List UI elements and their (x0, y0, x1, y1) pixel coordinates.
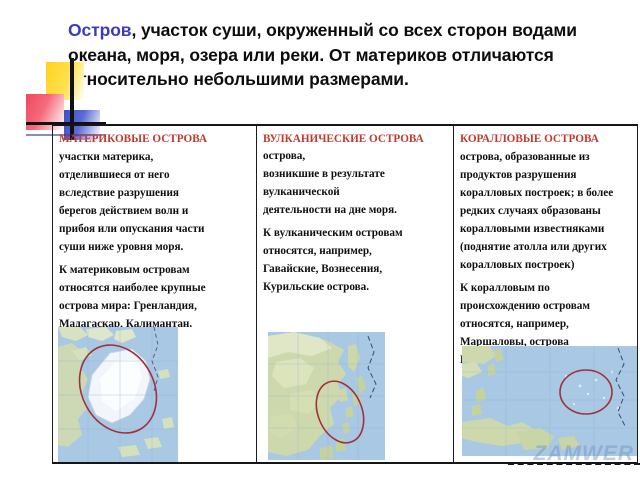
column-text-line: коралловыми известняками (460, 221, 630, 238)
column-text-line: Курильские острова. (263, 279, 446, 296)
east-asia-map-graphic (268, 332, 385, 460)
column-text-line: возникшие в результате (263, 166, 446, 183)
column-header-paragraph: КОРАЛЛОВЫЕ ОСТРОВА (460, 131, 630, 148)
column-text-line: относятся наиболее крупные (59, 280, 249, 297)
column-text-line: острова мира: Гренландия, (59, 298, 249, 315)
column-text-line: К коралловым по (460, 280, 630, 297)
column-text-line: острова, образованные из (460, 149, 630, 166)
greenland-map (58, 327, 178, 462)
pacific-map (462, 346, 637, 456)
column-header-paragraph: МАТЕРИКОВЫЕ ОСТРОВА (59, 131, 249, 148)
column-text-line: коралловых построек; в более (460, 185, 630, 202)
column-text-line: суши ниже уровня моря. (59, 239, 249, 256)
column-text-line: прибоя или опускания части (59, 221, 249, 238)
column-text-line: Гавайские, Вознесения, (263, 261, 446, 278)
column-text-inline: острова, (263, 150, 305, 162)
column-text-line: участки материка, (59, 149, 249, 166)
column-text-line: К вулканическим островам (263, 225, 446, 242)
island-types-table: МАТЕРИКОВЫЕ ОСТРОВА участки материка, от… (52, 126, 638, 464)
title-rest: , участок суши, окруженный со всех сторо… (68, 20, 577, 89)
column-text-line: редких случаях образованы (460, 203, 630, 220)
column-text-line: вулканической (263, 184, 446, 201)
page-title: Остров, участок суши, окруженный со всех… (68, 18, 613, 92)
column-text-line: (поднятие атолла или других (460, 239, 630, 256)
column-header-coral: КОРАЛЛОВЫЕ ОСТРОВА (460, 133, 599, 145)
column-text-line: вследствие разрушения (59, 185, 249, 202)
column-text-line: относятся, например, (263, 243, 446, 260)
column-text-line: К материковым островам (59, 262, 249, 279)
column-text-line: происхождению островам (460, 298, 630, 315)
column-text-line: относятся, например, (460, 316, 630, 333)
title-keyword: Остров (68, 20, 131, 40)
column-header-paragraph: ВУЛКАНИЧЕСКИЕ ОСТРОВА острова, (263, 131, 446, 165)
column-text-line: продуктов разрушения (460, 167, 630, 184)
column-header-mainland: МАТЕРИКОВЫЕ ОСТРОВА (59, 133, 207, 145)
column-text-line: берегов действием волн и (59, 203, 249, 220)
table-column-volcanic-islands: ВУЛКАНИЧЕСКИЕ ОСТРОВА острова, возникшие… (257, 126, 454, 462)
table-column-mainland-islands: МАТЕРИКОВЫЕ ОСТРОВА участки материка, от… (53, 126, 257, 462)
column-text-line: коралловых построек) (460, 257, 630, 274)
greenland-map-graphic (58, 327, 178, 462)
column-header-volcanic: ВУЛКАНИЧЕСКИЕ ОСТРОВА (263, 133, 424, 145)
pacific-map-graphic (462, 346, 637, 456)
column-text-line: отделившиеся от него (59, 167, 249, 184)
table-column-coral-islands: КОРАЛЛОВЫЕ ОСТРОВА острова, образованные… (454, 126, 637, 462)
east-asia-map (268, 332, 385, 460)
bottom-dashed-divider (508, 463, 640, 465)
column-text-line: деятельности на дне моря. (263, 202, 446, 219)
